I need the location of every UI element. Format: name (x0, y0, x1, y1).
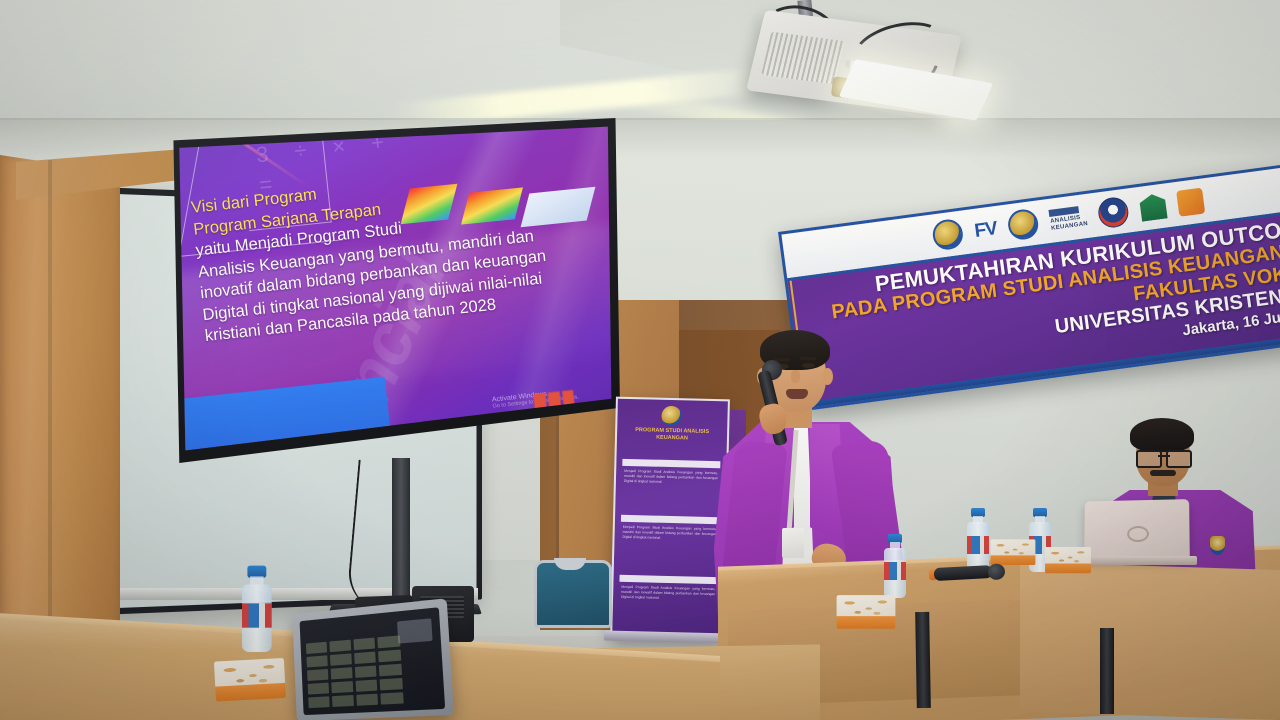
tissue-box[interactable] (837, 595, 896, 631)
bottle-label (967, 536, 989, 554)
water-bottle[interactable] (884, 534, 906, 598)
uki-crest-logo (931, 218, 965, 252)
tissue-box-top (1045, 547, 1091, 565)
green-shield-logo (1139, 193, 1168, 222)
wall-tv[interactable]: 3 ÷ × + = Financial Visi dari Program Pr… (168, 118, 620, 463)
table-leg-2 (1100, 628, 1114, 714)
tissue-box-band (837, 616, 896, 629)
rollup-section-misi (621, 515, 719, 524)
foreground-laptop[interactable] (288, 606, 464, 720)
speaker-eyebrow-right (800, 357, 816, 360)
foreground-laptop-screen[interactable] (300, 607, 446, 715)
laptop-screen-grid (306, 635, 404, 711)
tv-cable (346, 460, 421, 615)
tissue-box[interactable] (214, 658, 286, 704)
participant-moustache (1150, 470, 1176, 476)
speaker-nose (791, 370, 800, 383)
tissue-box[interactable] (991, 539, 1036, 566)
right-table (1020, 562, 1280, 720)
wood-pillar (0, 155, 120, 675)
speaker-eye-right (802, 363, 815, 368)
laptop-screen-panel (397, 618, 433, 643)
fv-logo: FV (973, 219, 998, 241)
bottle-label (242, 603, 272, 627)
projector-vent (761, 32, 845, 85)
wood-pillar-edge (48, 160, 52, 660)
participant-blazer-crest (1210, 536, 1225, 555)
participant-hair (1130, 418, 1194, 452)
microphone-grip (934, 565, 993, 581)
tv-screen: 3 ÷ × + = Financial Visi dari Program Pr… (174, 124, 614, 455)
rollup-body-visi: Menjadi Program Studi Analisis Keuangan … (623, 469, 718, 513)
water-bottle[interactable] (967, 508, 989, 572)
tissue-box-band (1045, 563, 1091, 573)
tissue-box-top (991, 539, 1036, 557)
laptop-base (1079, 556, 1197, 565)
speaker-id-badge (782, 528, 804, 558)
chair-backrest (534, 560, 612, 628)
unggul-round-logo (1097, 196, 1131, 230)
table-leg (915, 612, 931, 708)
eyeglasses-bridge (1158, 455, 1170, 457)
speaker-mouth (786, 389, 808, 399)
analisis-keuangan-logo: ANALISIS KEUANGAN (1049, 205, 1089, 231)
rollup-body-tujuan: Menjadi Program Studi Analisis Keuangan … (620, 585, 715, 633)
uki-crest-logo-2 (1007, 208, 1041, 242)
rollup-crest-logo (661, 406, 681, 426)
microphone-head (988, 563, 1006, 580)
conference-chair[interactable] (530, 556, 610, 626)
water-bottle[interactable] (242, 566, 272, 652)
tissue-box[interactable] (1045, 547, 1091, 575)
tissue-box-band (215, 683, 286, 702)
bottle-label (884, 562, 906, 580)
participant-laptop[interactable] (1083, 500, 1195, 566)
orange-badge-logo (1176, 188, 1205, 217)
seminar-room-photo: 3 ÷ × + = Financial Visi dari Program Pr… (0, 0, 1280, 720)
tissue-box-top (837, 595, 896, 618)
speaker-ear-right (822, 368, 833, 385)
rollup-title-line-1: PROGRAM STUDI ANALISIS KEUANGAN (635, 427, 709, 442)
eyeglasses-icon (1136, 450, 1192, 464)
